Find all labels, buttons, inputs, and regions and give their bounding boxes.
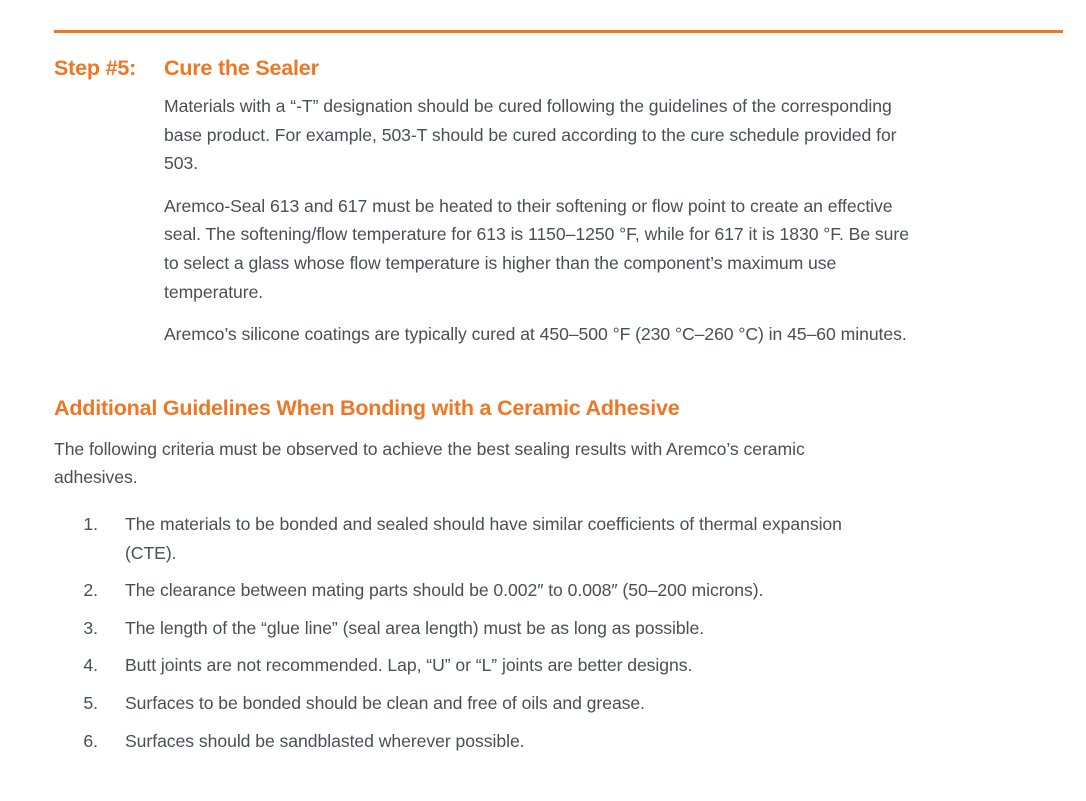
list-item-text: Butt joints are not recommended. Lap, “U… [125, 651, 692, 680]
list-item: 2. The clearance between mating parts sh… [0, 576, 1086, 605]
step-title: Cure the Sealer [164, 56, 319, 81]
step-heading: Step #5: Cure the Sealer [0, 56, 1086, 81]
guidelines-list: 1. The materials to be bonded and sealed… [0, 510, 1086, 755]
step-paragraph-1: Materials with a “-T” designation should… [164, 92, 916, 178]
top-orange-rule [54, 30, 1063, 33]
list-item-number: 4. [70, 651, 98, 680]
step-paragraph-2: Aremco-Seal 613 and 617 must be heated t… [164, 192, 916, 306]
list-item: 3. The length of the “glue line” (seal a… [0, 614, 1086, 643]
guidelines-section-heading: Additional Guidelines When Bonding with … [0, 349, 1086, 421]
list-item-number: 5. [70, 689, 98, 718]
step-body-block: Materials with a “-T” designation should… [0, 92, 1086, 349]
list-item: 5. Surfaces to be bonded should be clean… [0, 689, 1086, 718]
list-item-text: The length of the “glue line” (seal area… [125, 614, 704, 643]
step-paragraph-3: Aremco’s silicone coatings are typically… [164, 320, 916, 349]
list-item-number: 6. [70, 727, 98, 756]
list-item-text: Surfaces to be bonded should be clean an… [125, 689, 645, 718]
list-item: 1. The materials to be bonded and sealed… [0, 510, 1086, 567]
list-item: 4. Butt joints are not recommended. Lap,… [0, 651, 1086, 680]
list-item-text: Surfaces should be sandblasted wherever … [125, 727, 525, 756]
guidelines-intro-paragraph: The following criteria must be observed … [0, 435, 1086, 492]
document-content: Step #5: Cure the Sealer Materials with … [0, 56, 1086, 764]
list-item-number: 1. [70, 510, 98, 539]
document-page: Step #5: Cure the Sealer Materials with … [0, 0, 1086, 801]
list-item-text: The materials to be bonded and sealed sh… [125, 510, 855, 567]
list-item-number: 2. [70, 576, 98, 605]
list-item-number: 3. [70, 614, 98, 643]
list-item: 6. Surfaces should be sandblasted wherev… [0, 727, 1086, 756]
list-item-text: The clearance between mating parts shoul… [125, 576, 763, 605]
step-number-label: Step #5: [54, 56, 164, 81]
